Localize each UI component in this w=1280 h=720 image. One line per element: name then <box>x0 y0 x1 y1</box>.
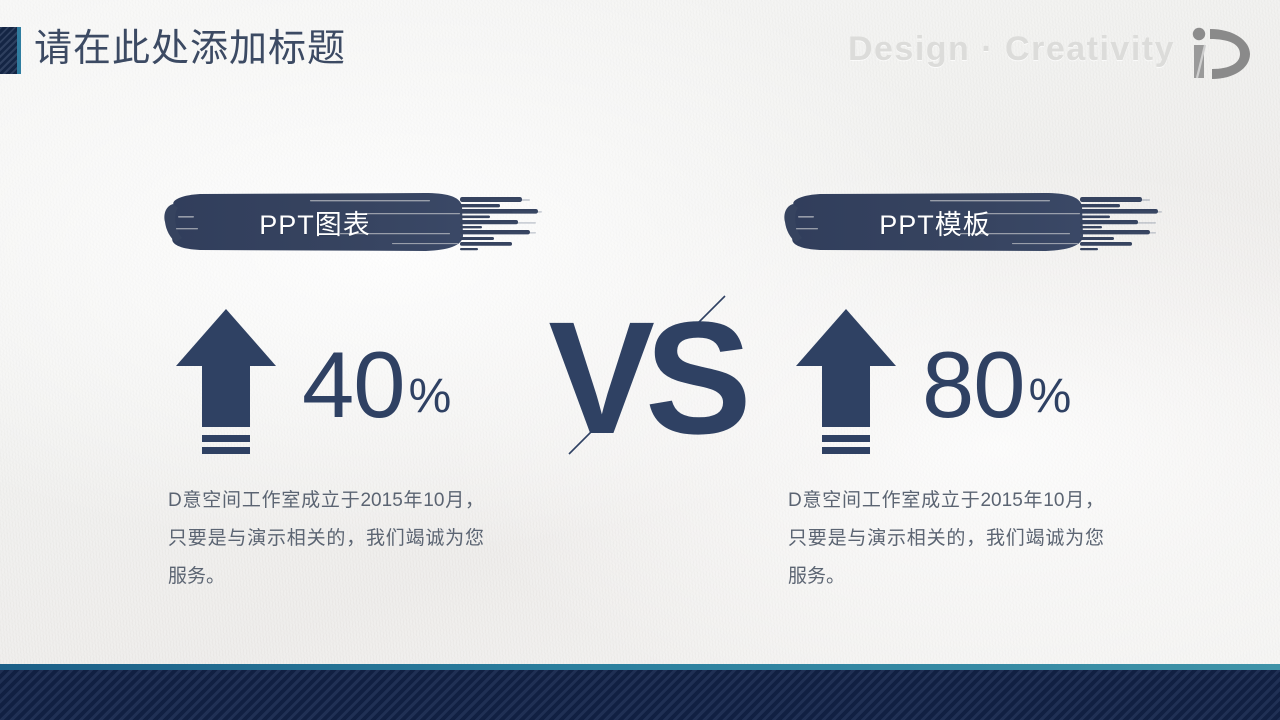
brush-banner-right: PPT模板 <box>780 186 1170 258</box>
comparison-column-left: PPT图表 40 % D意空间工作室成立于2015年10月，只要是与演示相关的，… <box>160 186 660 258</box>
id-logo-icon <box>1186 22 1260 84</box>
slide-canvas: 请在此处添加标题 Design · Creativity <box>0 0 1280 720</box>
stat-unit-left: % <box>409 362 452 432</box>
footer-bar <box>0 670 1280 720</box>
comparison-column-right: PPT模板 80 % D意空间工作室成立于2015年10月，只要是与演示相关的，… <box>780 186 1280 258</box>
brush-banner-left: PPT图表 <box>160 186 550 258</box>
stat-number-left: 40 <box>302 338 405 432</box>
stat-unit-right: % <box>1029 362 1072 432</box>
stat-number-right: 80 <box>922 338 1025 432</box>
page-title: 请在此处添加标题 <box>34 24 346 74</box>
stat-row-right: 80 % <box>780 290 1200 480</box>
vs-block: VS <box>555 278 735 478</box>
stat-row-left: 40 % <box>160 290 580 480</box>
stat-value-left: 40 % <box>302 338 451 432</box>
title-accent-mark <box>0 27 21 74</box>
slide-header: 请在此处添加标题 Design · Creativity <box>0 0 1280 96</box>
banner-label-right: PPT模板 <box>780 186 1090 258</box>
stat-value-right: 80 % <box>922 338 1071 432</box>
description-right: D意空间工作室成立于2015年10月，只要是与演示相关的，我们竭诚为您服务。 <box>788 482 1104 596</box>
vs-label: VS <box>555 278 735 478</box>
up-arrow-icon <box>172 305 280 465</box>
banner-label-left: PPT图表 <box>160 186 470 258</box>
description-left: D意空间工作室成立于2015年10月，只要是与演示相关的，我们竭诚为您服务。 <box>168 482 484 596</box>
up-arrow-icon <box>792 305 900 465</box>
brand-tagline: Design · Creativity <box>848 30 1175 69</box>
